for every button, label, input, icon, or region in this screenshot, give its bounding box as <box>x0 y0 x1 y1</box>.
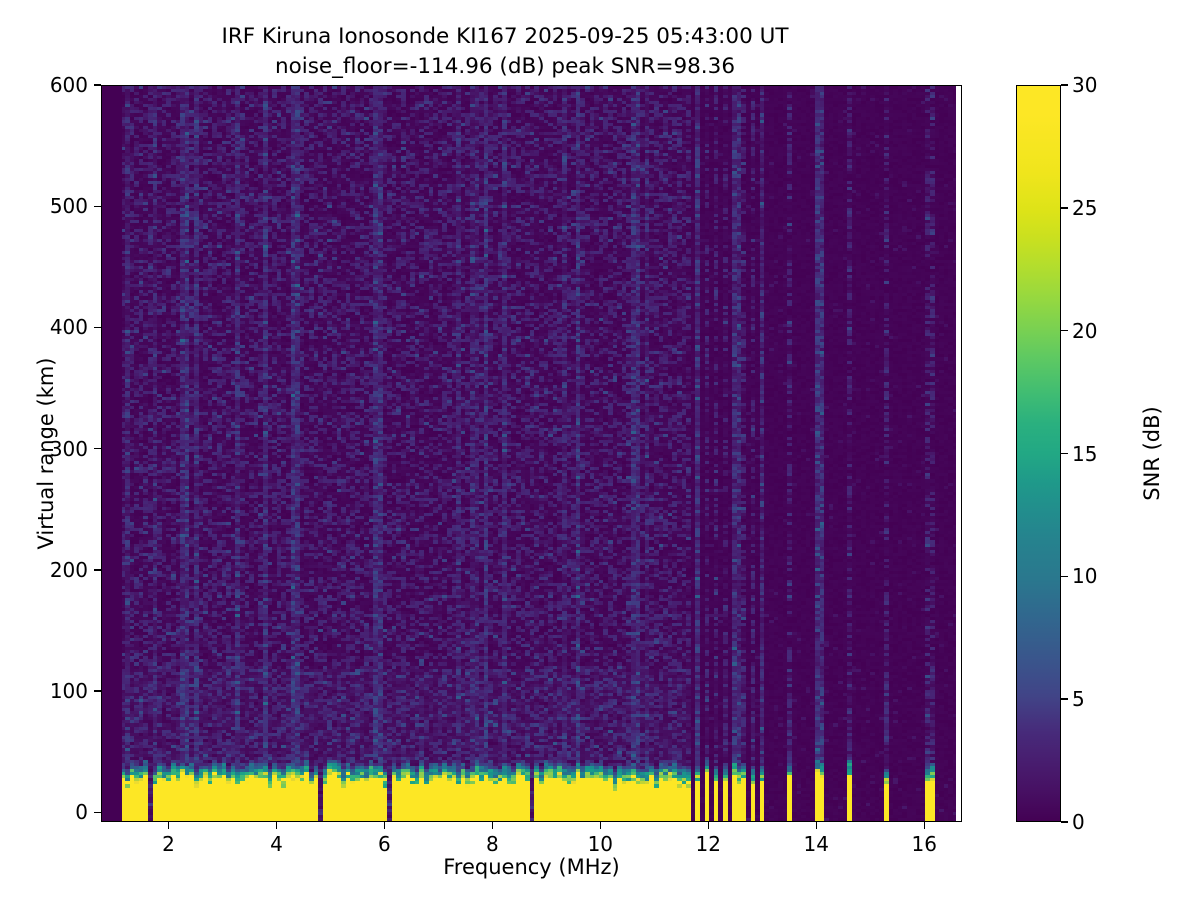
colorbar-label: SNR (dB) <box>1140 85 1164 822</box>
x-tick-label: 12 <box>696 832 721 856</box>
x-tick-label: 10 <box>588 832 613 856</box>
x-tick-label: 14 <box>804 832 829 856</box>
x-tick-mark <box>492 822 493 829</box>
x-tick-mark <box>816 822 817 829</box>
x-tick-label: 8 <box>486 832 499 856</box>
y-tick-mark <box>94 690 101 691</box>
x-tick-mark <box>168 822 169 829</box>
y-tick-label: 0 <box>75 800 88 824</box>
x-tick-label: 4 <box>270 832 283 856</box>
colorbar-tick-mark <box>1061 84 1068 85</box>
x-tick-label: 2 <box>162 832 175 856</box>
x-tick-mark <box>924 822 925 829</box>
x-tick-label: 16 <box>911 832 936 856</box>
colorbar-tick-label: 15 <box>1072 442 1097 466</box>
x-tick-label: 6 <box>378 832 391 856</box>
x-tick-mark <box>708 822 709 829</box>
colorbar-tick-label: 5 <box>1072 687 1085 711</box>
page-title: IRF Kiruna Ionosonde KI167 2025-09-25 05… <box>0 22 1010 82</box>
colorbar-tick-label: 30 <box>1072 73 1097 97</box>
y-tick-mark <box>94 812 101 813</box>
y-tick-mark <box>94 448 101 449</box>
colorbar-tick-mark <box>1061 576 1068 577</box>
ionogram-plot-area <box>101 85 962 822</box>
y-axis-label: Virtual range (km) <box>34 85 58 822</box>
y-tick-mark <box>94 569 101 570</box>
x-axis-label: Frequency (MHz) <box>101 855 962 879</box>
colorbar-tick-mark <box>1061 330 1068 331</box>
x-tick-mark <box>384 822 385 829</box>
x-tick-mark <box>600 822 601 829</box>
colorbar-tick-mark <box>1061 698 1068 699</box>
y-tick-mark <box>94 84 101 85</box>
colorbar-tick-mark <box>1061 453 1068 454</box>
y-tick-mark <box>94 327 101 328</box>
ionogram-heatmap-image <box>102 86 956 821</box>
colorbar-gradient <box>1017 86 1060 821</box>
colorbar-tick-label: 0 <box>1072 810 1085 834</box>
colorbar-tick-mark <box>1061 207 1068 208</box>
colorbar-tick-label: 10 <box>1072 564 1097 588</box>
colorbar-tick-label: 25 <box>1072 196 1097 220</box>
colorbar <box>1016 85 1061 822</box>
colorbar-tick-label: 20 <box>1072 319 1097 343</box>
heatmap-left-deadband <box>102 86 122 821</box>
colorbar-tick-mark <box>1061 821 1068 822</box>
x-tick-mark <box>276 822 277 829</box>
y-tick-mark <box>94 206 101 207</box>
